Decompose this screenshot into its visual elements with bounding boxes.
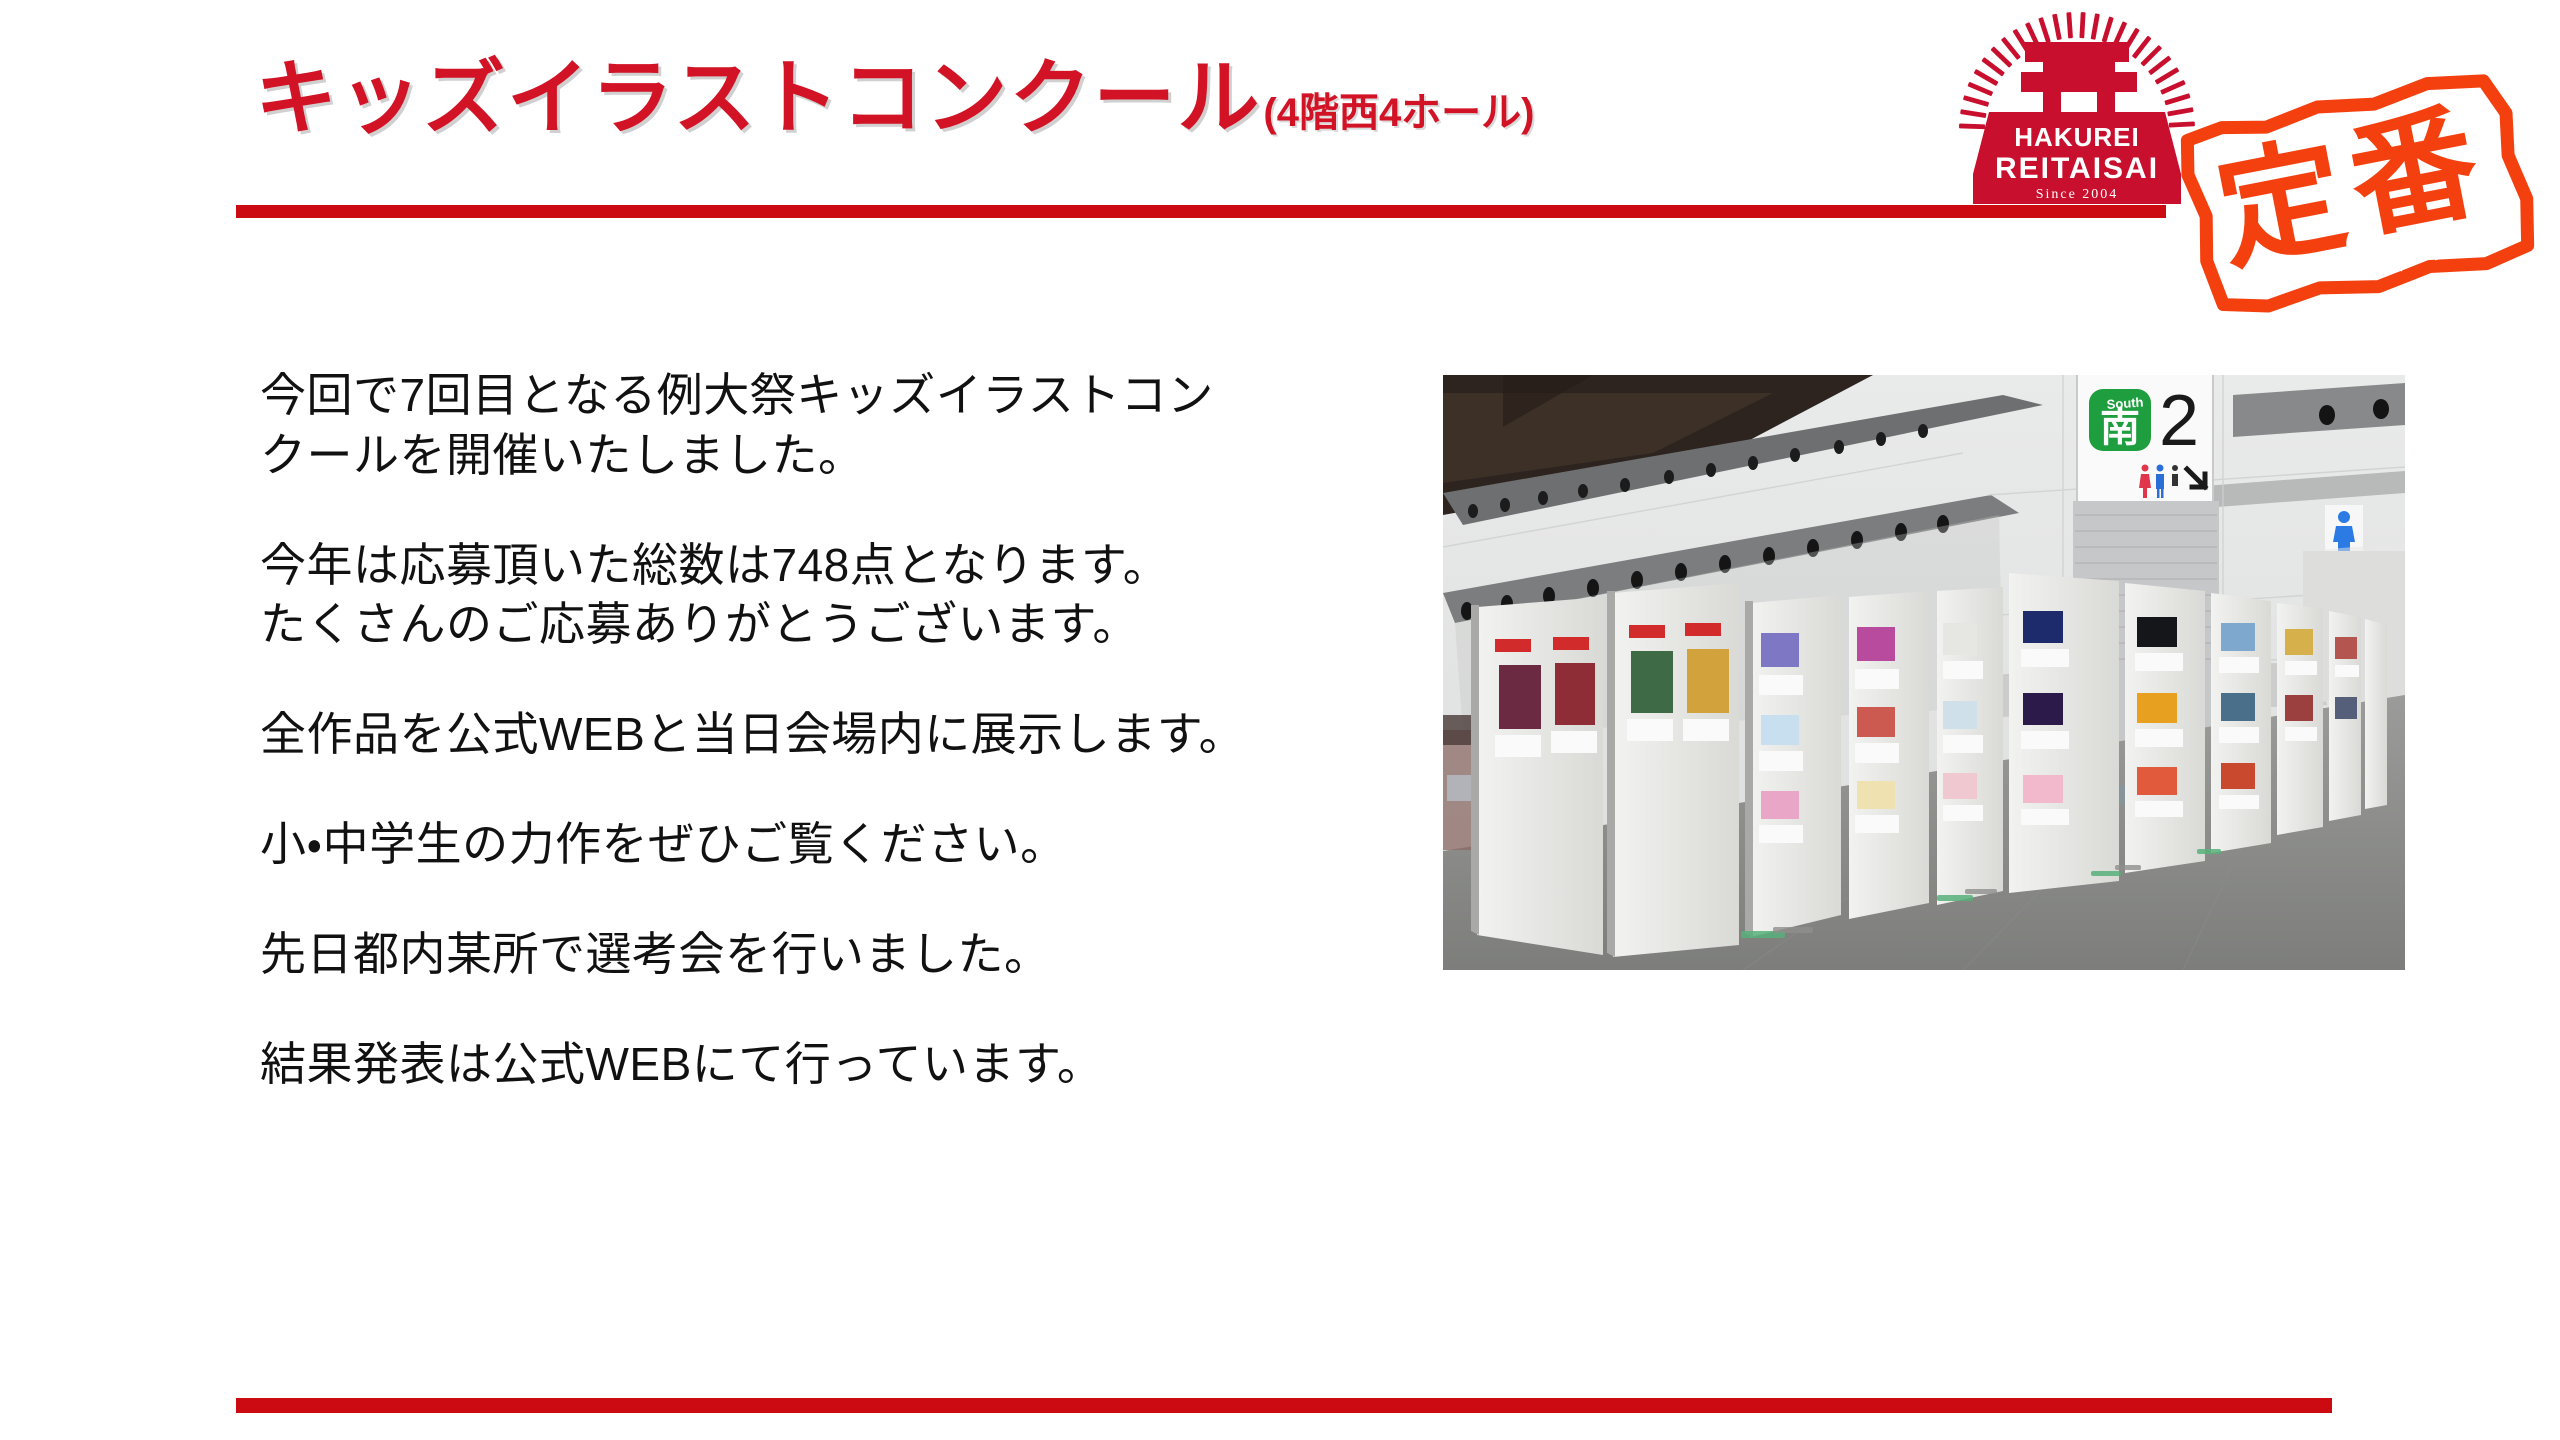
paragraph-line: 先日都内某所で選考会を行いました。 [260,925,1400,985]
display-panel [2365,619,2387,809]
logo-line3: REITAISAI [1995,152,2159,185]
page-title: キッズイラストコンクール (4階西4ホール) [255,58,1535,140]
svg-text:南: 南 [2100,406,2140,450]
display-panel [1745,595,1841,937]
paragraph-5: 先日都内某所で選考会を行いました。 [260,925,1400,985]
display-panel [2211,593,2271,853]
paragraph-4: 小・中学生の力作をぜひご覧ください。 [260,815,1400,875]
display-panel [1937,587,2003,905]
page-title-main: キッズイラストコンクール [255,58,1261,140]
paragraph-3: 全作品を公式WEBと当日会場内に展示します。 [260,705,1400,765]
display-panel [2277,603,2323,835]
svg-text:定: 定 [2206,123,2357,285]
south-2-sign: South 南 2 [2077,375,2213,503]
logo-line1: HAKUREI [2014,122,2139,152]
display-panel-group [1471,583,2003,957]
restroom-icon-far [2325,505,2363,551]
paragraph-1: 今回で7回目となる例大祭キッズイラストコン クールを開催いたしました。 [260,366,1400,486]
paragraph-line: 全作品を公式WEBと当日会場内に展示します。 [260,705,1400,765]
slide-canvas: キッズイラストコンクール (4階西4ホール) [0,0,2560,1440]
title-divider-rule [236,205,2166,218]
paragraph-line: 今回で7回目となる例大祭キッズイラストコン [260,366,1400,426]
display-panel [2329,611,2361,821]
body-text-block: 今回で7回目となる例大祭キッズイラストコン クールを開催いたしました。 今年は応… [260,366,1400,1094]
exhibition-hall-photo: South 南 2 [1443,375,2405,970]
page-title-sub: (4階西4ホール) [1263,93,1534,133]
display-panel [1607,583,1739,957]
paragraph-line: 結果発表は公式WEBにて行っています。 [260,1035,1400,1095]
display-panel [1849,591,1929,919]
paragraph-6: 結果発表は公式WEBにて行っています。 [260,1035,1400,1095]
display-panel [2125,583,2205,873]
paragraph-line: 小・中学生の力作をぜひご覧ください。 [260,815,1400,875]
paragraph-line: クールを開催いたしました。 [260,426,1400,486]
hakurei-jinja-reitaisai-logo: HAKUREI REITAISAI Since 2004 [1947,2,2207,207]
teiban-stamp: 定 番 テイバン [2166,48,2558,342]
paragraph-line: 今年は応募頂いた総数は748点となります。 [260,536,1400,596]
display-panel [1471,597,1603,955]
paragraph-2: 今年は応募頂いた総数は748点となります。 たくさんのご応募ありがとうございます… [260,536,1400,656]
footer-rule [236,1398,2332,1413]
logo-since: Since 2004 [2036,187,2119,202]
display-panel [2009,573,2119,893]
svg-text:2: 2 [2159,381,2199,461]
paragraph-line: たくさんのご応募ありがとうございます。 [260,595,1400,655]
